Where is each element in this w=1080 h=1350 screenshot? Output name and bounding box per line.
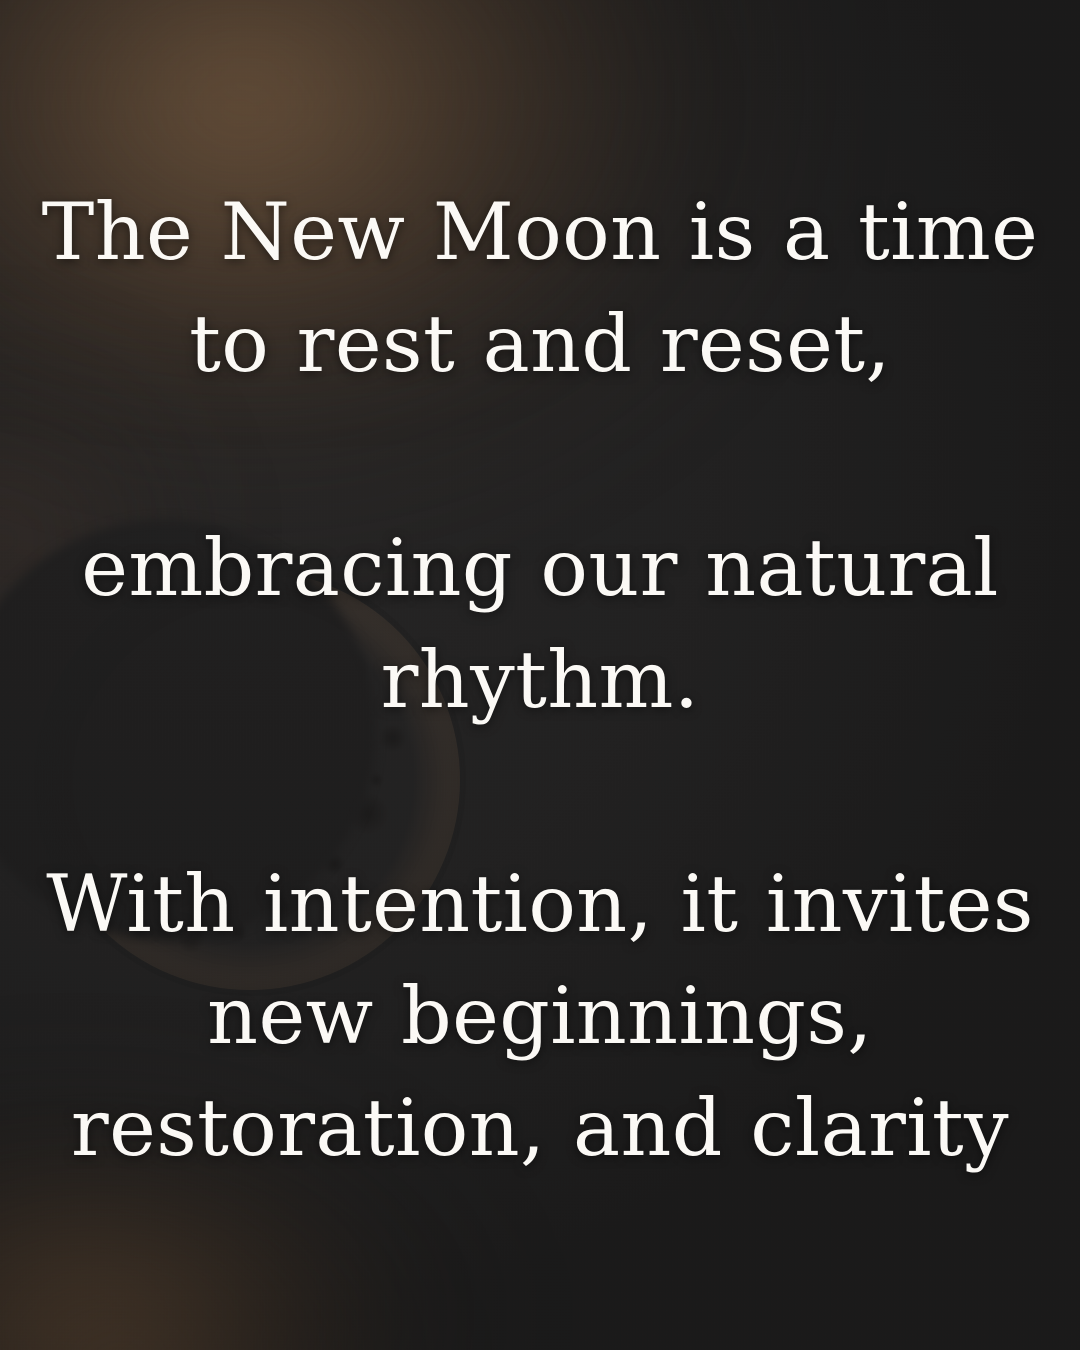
quote-paragraph-3: With intention, it invites new beginning… <box>30 848 1050 1184</box>
quote-card: The New Moon is a time to rest and reset… <box>0 0 1080 1350</box>
paragraph-spacer <box>30 400 1050 512</box>
quote-line: new beginnings, <box>30 960 1050 1072</box>
quote-line: With intention, it invites <box>30 848 1050 960</box>
quote-line: rhythm. <box>30 624 1050 736</box>
paragraph-spacer <box>30 736 1050 848</box>
quote-line: restoration, and clarity <box>30 1072 1050 1184</box>
quote-paragraph-2: embracing our natural rhythm. <box>30 512 1050 736</box>
quote-line: to rest and reset, <box>30 288 1050 400</box>
quote-paragraph-1: The New Moon is a time to rest and reset… <box>30 176 1050 400</box>
quote-line: The New Moon is a time <box>30 176 1050 288</box>
quote-text-block: The New Moon is a time to rest and reset… <box>0 176 1080 1184</box>
quote-line: embracing our natural <box>30 512 1050 624</box>
